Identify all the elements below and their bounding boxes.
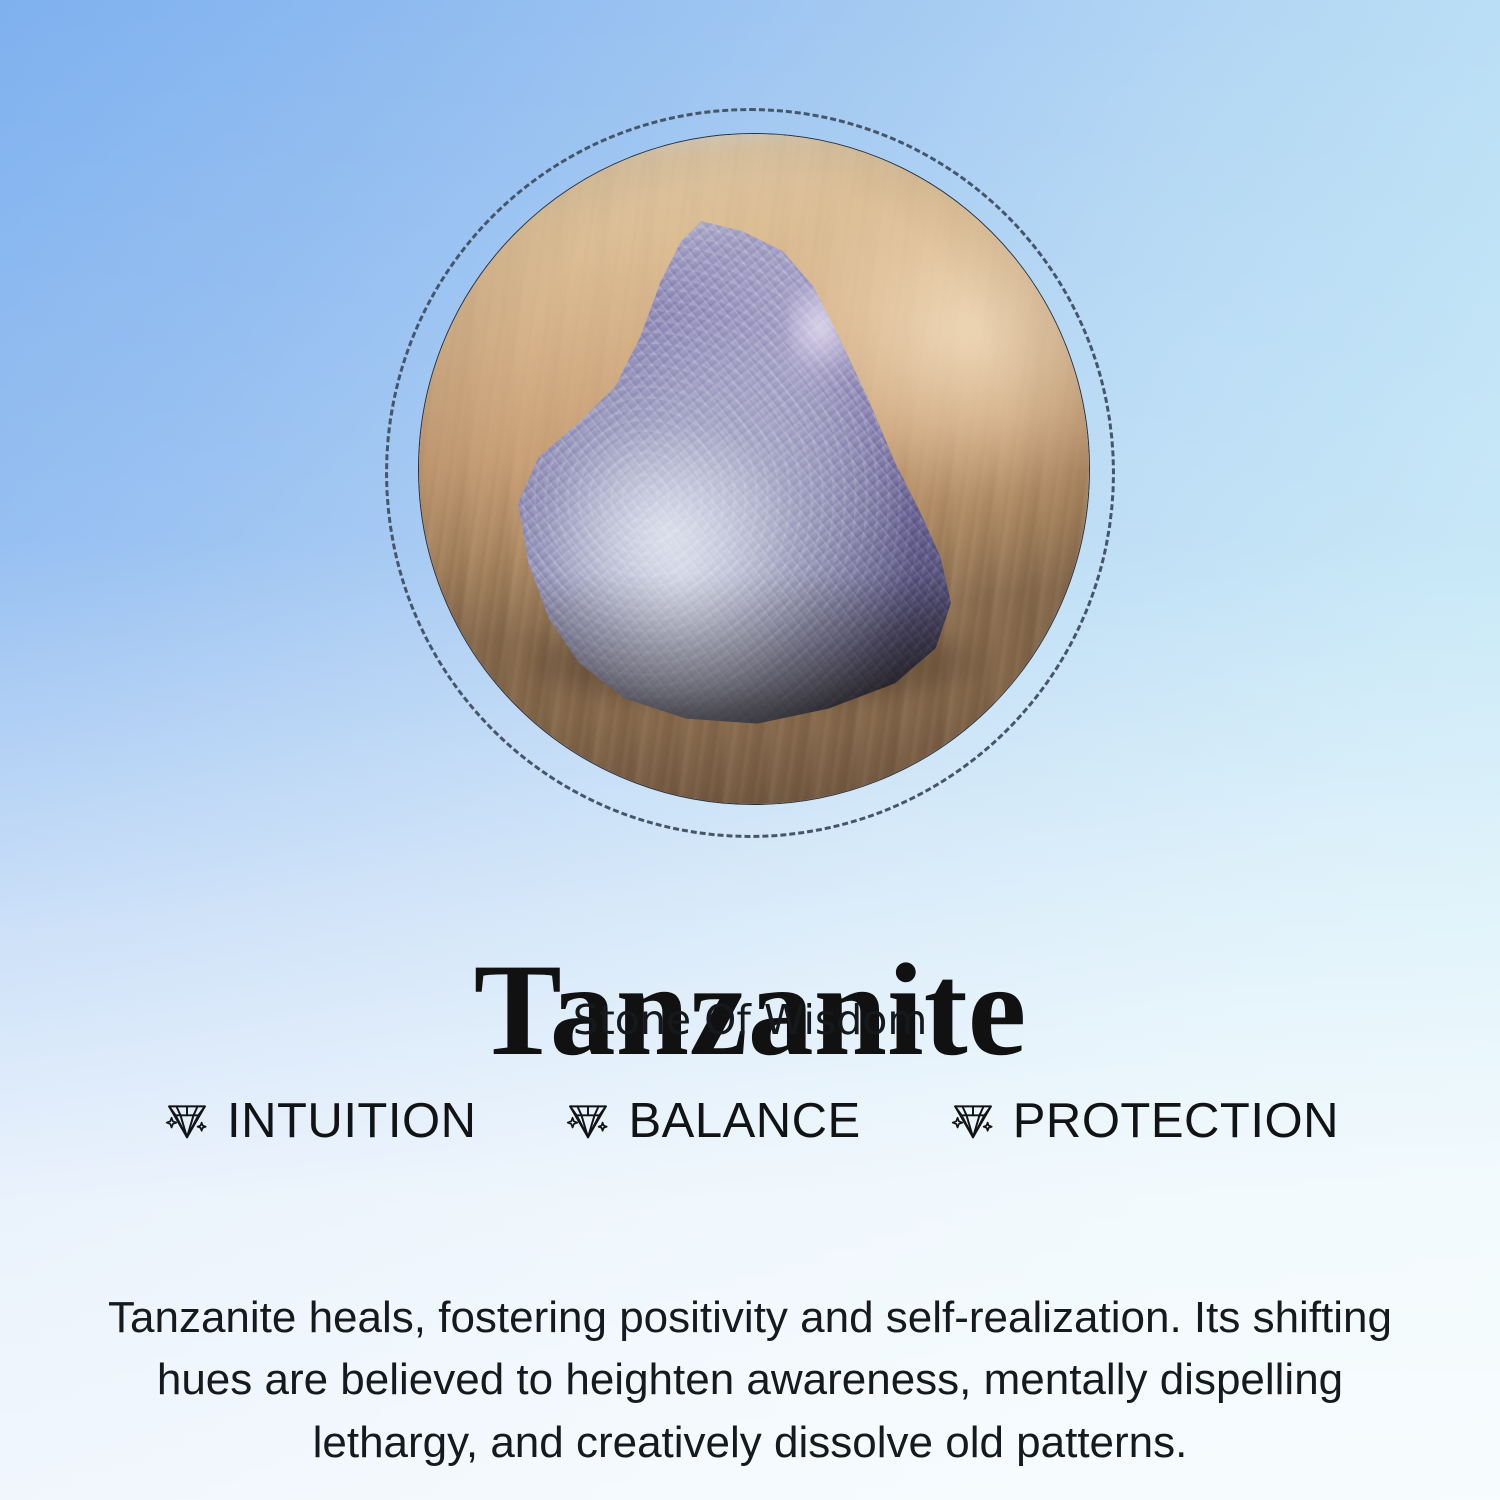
keyword-label: INTUITION	[227, 1097, 476, 1146]
keyword-list: INTUITION BALANCE	[0, 1095, 1500, 1147]
photo-vignette	[419, 134, 1089, 804]
keyword-item-intuition: INTUITION	[161, 1095, 476, 1147]
diamond-gem-icon	[947, 1095, 999, 1147]
gemstone-photo	[418, 133, 1090, 805]
keyword-label: BALANCE	[628, 1097, 860, 1146]
diamond-gem-icon	[161, 1095, 213, 1147]
diamond-gem-icon	[562, 1095, 614, 1147]
keyword-label: PROTECTION	[1013, 1097, 1339, 1146]
keyword-item-balance: BALANCE	[562, 1095, 860, 1147]
page-subtitle: Stone Of Wisdom	[0, 1000, 1500, 1041]
gemstone-info-card: Tanzanite Stone Of Wisdom	[0, 0, 1500, 1500]
keyword-item-protection: PROTECTION	[947, 1095, 1339, 1147]
description-text: Tanzanite heals, fostering positivity an…	[95, 1287, 1405, 1474]
gemstone-photo-block	[385, 108, 1115, 838]
